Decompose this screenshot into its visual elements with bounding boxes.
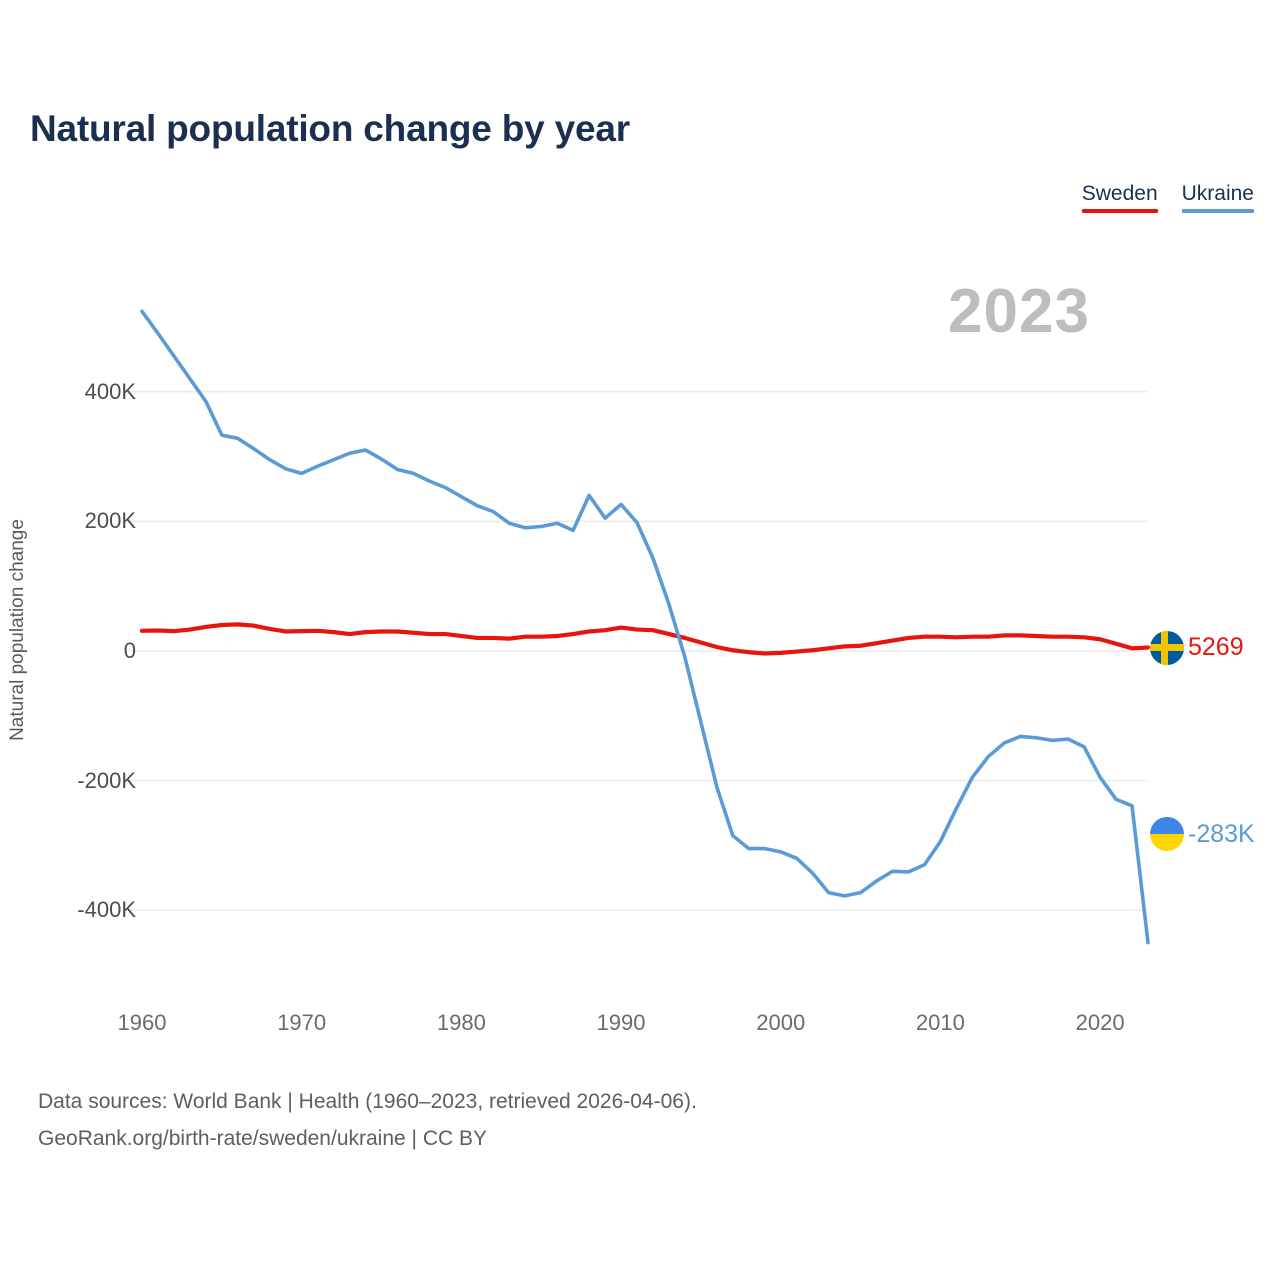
end-label-sweden-value: 5269 <box>1188 635 1244 660</box>
end-label-ukraine: -283K <box>1150 817 1255 851</box>
chart-page: Natural population change by year Sweden… <box>0 0 1280 1280</box>
x-tick-label: 1970 <box>277 1010 326 1036</box>
x-tick-label: 2000 <box>756 1010 805 1036</box>
x-tick-label: 1980 <box>437 1010 486 1036</box>
end-label-ukraine-value: -283K <box>1188 822 1255 847</box>
y-axis-title: Natural population change <box>7 519 29 741</box>
x-tick-label: 2020 <box>1076 1010 1125 1036</box>
x-tick-label: 1990 <box>597 1010 646 1036</box>
x-tick-label: 1960 <box>118 1010 167 1036</box>
ukraine-flag-icon <box>1150 817 1184 851</box>
end-label-sweden: 5269 <box>1150 631 1244 665</box>
footer-attribution: Data sources: World Bank | Health (1960–… <box>38 1083 697 1157</box>
x-tick-label: 2010 <box>916 1010 965 1036</box>
footer-line-1: Data sources: World Bank | Health (1960–… <box>38 1083 697 1120</box>
sweden-flag-icon <box>1150 631 1184 665</box>
footer-line-2: GeoRank.org/birth-rate/sweden/ukraine | … <box>38 1120 697 1157</box>
